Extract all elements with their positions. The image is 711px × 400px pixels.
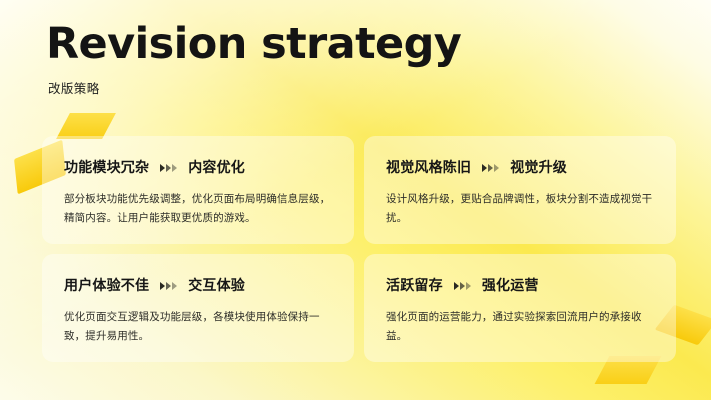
- slide-header: Revision strategy 改版策略: [46, 20, 461, 97]
- strategy-card: 视觉风格陈旧 视觉升级 设计风格升级，更贴合品牌调性，板块分割不造成视觉干扰。: [364, 136, 676, 244]
- card-heading: 视觉风格陈旧 视觉升级: [386, 157, 654, 177]
- card-problem-label: 用户体验不佳: [64, 275, 149, 295]
- arrow-right-triple-icon: [160, 164, 177, 172]
- card-description: 优化页面交互逻辑及功能层级，各模块使用体验保持一致，提升易用性。: [64, 308, 332, 345]
- strategy-card: 用户体验不佳 交互体验 优化页面交互逻辑及功能层级，各模块使用体验保持一致，提升…: [42, 254, 354, 362]
- card-problem-label: 视觉风格陈旧: [386, 157, 471, 177]
- card-solution-label: 强化运营: [482, 275, 539, 295]
- card-solution-label: 视觉升级: [510, 157, 567, 177]
- card-heading: 活跃留存 强化运营: [386, 275, 654, 295]
- slide-canvas: Revision strategy 改版策略 功能模块冗杂 内容优化 部分板块功…: [0, 0, 711, 400]
- strategy-card-grid: 功能模块冗杂 内容优化 部分板块功能优先级调整，优化页面布局明确信息层级，精简内…: [42, 136, 676, 362]
- card-heading: 功能模块冗杂 内容优化: [64, 157, 332, 177]
- page-title: Revision strategy: [46, 20, 461, 68]
- arrow-right-triple-icon: [482, 164, 499, 172]
- card-description: 设计风格升级，更贴合品牌调性，板块分割不造成视觉干扰。: [386, 190, 654, 227]
- card-solution-label: 内容优化: [188, 157, 245, 177]
- page-subtitle: 改版策略: [48, 78, 461, 97]
- card-heading: 用户体验不佳 交互体验: [64, 275, 332, 295]
- arrow-right-triple-icon: [160, 282, 177, 290]
- card-problem-label: 功能模块冗杂: [64, 157, 149, 177]
- card-description: 强化页面的运营能力，通过实验探索回流用户的承接收益。: [386, 308, 654, 345]
- strategy-card: 功能模块冗杂 内容优化 部分板块功能优先级调整，优化页面布局明确信息层级，精简内…: [42, 136, 354, 244]
- strategy-card: 活跃留存 强化运营 强化页面的运营能力，通过实验探索回流用户的承接收益。: [364, 254, 676, 362]
- card-solution-label: 交互体验: [188, 275, 245, 295]
- card-problem-label: 活跃留存: [386, 275, 443, 295]
- card-description: 部分板块功能优先级调整，优化页面布局明确信息层级，精简内容。让用户能获取更优质的…: [64, 190, 332, 227]
- arrow-right-triple-icon: [454, 282, 471, 290]
